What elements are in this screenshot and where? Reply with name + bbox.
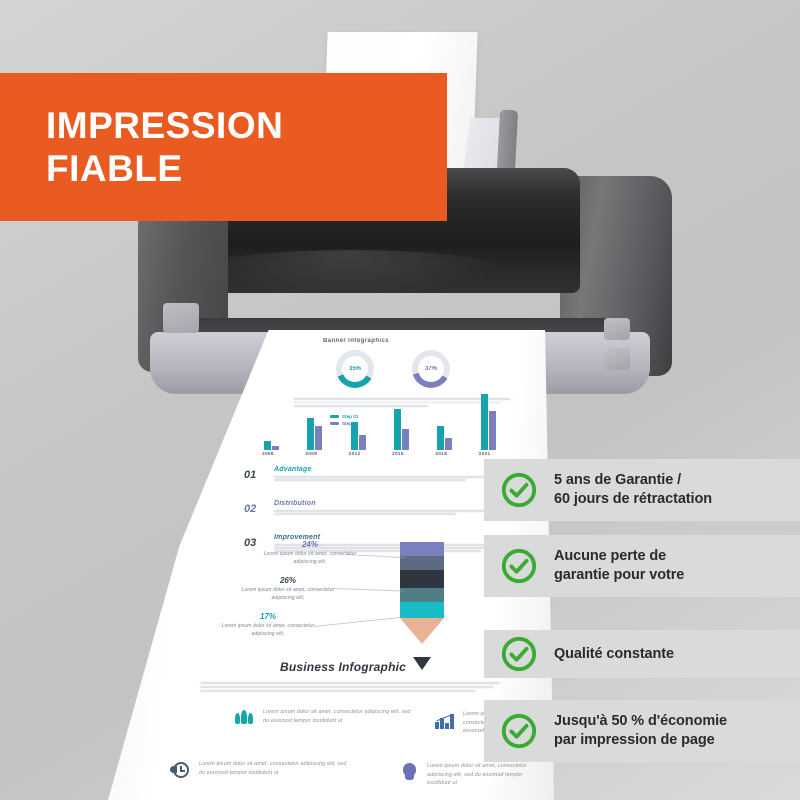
bar-step-02: [315, 426, 322, 450]
icon-feature-people: Lorem ipsum dolor sit amet, consectetur …: [234, 708, 414, 728]
x-tick-label: 2015: [392, 452, 404, 457]
bar-step-02: [445, 438, 452, 450]
bar-step-02: [359, 435, 366, 450]
bar-step-01: [437, 426, 444, 450]
list-item-title: Advantage: [274, 466, 312, 473]
feature-line-2: par impression de page: [554, 732, 715, 748]
check-circle-icon: [500, 547, 538, 585]
donut-1-value: 35%: [336, 350, 374, 388]
icon-feature-clock: Lorem ipsum dolor sit amet, consectetur …: [170, 760, 350, 780]
bar-step-01: [394, 409, 401, 450]
printout-section-paragraph: [200, 682, 500, 695]
list-item: 02 Distribution: [244, 500, 520, 522]
growth-chart-icon: [434, 710, 456, 730]
bar-step-02: [489, 411, 496, 450]
bar-step-02: [272, 446, 279, 450]
feature-line-2: 60 jours de rétractation: [554, 491, 712, 507]
icon-feature-text: Lorem ipsum dolor sit amet, consectetur …: [263, 708, 414, 725]
bar-step-01: [481, 394, 488, 450]
feature-line-2: garantie pour votre: [554, 567, 684, 583]
feature-line-1: Qualité constante: [554, 646, 674, 662]
headline-line-1: IMPRESSION: [46, 105, 283, 146]
funnel-percent: 24%: [256, 540, 364, 549]
bar-group: [481, 394, 515, 450]
printer-button-right-1: [604, 318, 630, 340]
funnel-percent: 26%: [234, 576, 342, 585]
bar-group: [351, 422, 385, 450]
bar-chart: [258, 390, 518, 450]
check-circle-icon: [500, 635, 538, 673]
x-tick-label: 2021: [479, 452, 491, 457]
people-icon: [234, 708, 256, 728]
icon-feature-text: Lorem ipsum dolor sit amet, consectetur …: [427, 762, 528, 788]
feature-line-1: Jusqu'à 50 % d'économie: [554, 713, 727, 729]
bar-group: [307, 418, 341, 450]
bar-group: [394, 409, 428, 450]
donut-chart-2: 37%: [412, 350, 450, 388]
icon-feature-text: Lorem ipsum dolor sit amet, consectetur …: [199, 760, 350, 777]
printer-lid-gloss: [185, 250, 515, 296]
bar-step-01: [351, 422, 358, 450]
x-tick-label: 2018: [435, 452, 447, 457]
check-circle-icon: [500, 471, 538, 509]
bar-group: [264, 441, 298, 450]
x-tick-label: 2006: [262, 452, 274, 457]
x-tick-label: 2012: [349, 452, 361, 457]
feature-label: Jusqu'à 50 % d'économie par impression d…: [554, 712, 727, 749]
funnel-text: Lorem ipsum dolor sit amet, consectetur …: [234, 587, 342, 603]
list-item-number: 01: [244, 469, 256, 481]
bar-step-01: [264, 441, 271, 450]
funnel-item: 26% Lorem ipsum dolor sit amet, consecte…: [234, 576, 342, 603]
feature-item-warranty: 5 ans de Garantie / 60 jours de rétracta…: [484, 459, 800, 521]
feature-label: 5 ans de Garantie / 60 jours de rétracta…: [554, 471, 712, 508]
clock-icon: [170, 760, 192, 780]
funnel-percent: 17%: [214, 612, 322, 621]
bar-step-01: [307, 418, 314, 450]
feature-line-1: Aucune perte de: [554, 548, 666, 564]
pencil-graphic: [400, 542, 444, 644]
printer-button-left: [163, 303, 199, 333]
bar-chart-x-axis-labels: 200620092012201520182021: [258, 452, 518, 462]
feature-label: Qualité constante: [554, 645, 674, 664]
list-item-title: Distribution: [274, 500, 316, 507]
icon-feature-bulb: Lorem ipsum dolor sit amet, consectetur …: [398, 762, 528, 788]
feature-item-savings: Jusqu'à 50 % d'économie par impression d…: [484, 700, 800, 762]
pencil-funnel-chart: 24% Lorem ipsum dolor sit amet, consecte…: [228, 542, 528, 652]
lightbulb-icon: [398, 762, 420, 782]
bar-step-02: [402, 429, 409, 450]
x-tick-label: 2009: [305, 452, 317, 457]
feature-item-quality: Qualité constante: [484, 630, 800, 678]
headline-line-2: FIABLE: [46, 148, 183, 189]
page-title: IMPRESSION FIABLE: [46, 104, 447, 191]
feature-item-no-warranty-loss: Aucune perte de garantie pour votre: [484, 535, 800, 597]
feature-label: Aucune perte de garantie pour votre: [554, 547, 684, 584]
check-circle-icon: [500, 712, 538, 750]
donut-chart-1: 35%: [336, 350, 374, 388]
funnel-text: Lorem ipsum dolor sit amet, consectetur …: [214, 623, 322, 639]
product-marketing-image: Banner Infographics 35% 37% Step 01: [0, 0, 800, 800]
bar-group: [437, 426, 471, 450]
donut-2-value: 37%: [412, 350, 450, 388]
printer-button-right-2: [604, 348, 630, 370]
funnel-item: 17% Lorem ipsum dolor sit amet, consecte…: [214, 612, 322, 639]
donut-chart-group: 35% 37%: [336, 350, 466, 388]
list-item-number: 02: [244, 503, 256, 515]
list-item: 01 Advantage: [244, 466, 520, 488]
headline-banner: IMPRESSION FIABLE: [0, 73, 447, 221]
feature-line-1: 5 ans de Garantie /: [554, 472, 681, 488]
